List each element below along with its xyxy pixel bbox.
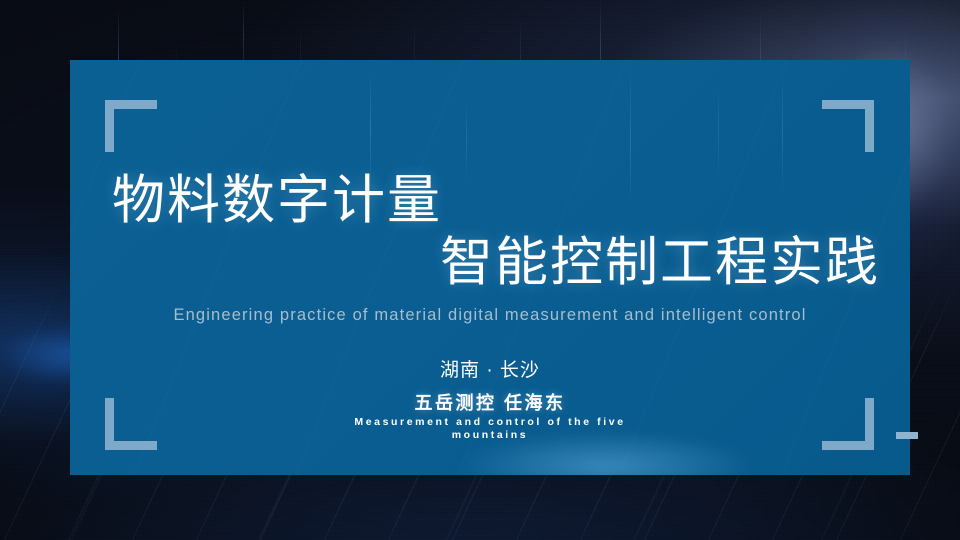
bracket-vertical-arm xyxy=(105,100,114,152)
page-title-line-2: 智能控制工程实践 xyxy=(70,232,910,294)
subtitle-english: Engineering practice of material digital… xyxy=(70,306,910,325)
page-title-line-1: 物料数字计量 xyxy=(70,170,910,232)
presenter-name-english: Measurement and control of the five moun… xyxy=(325,416,655,442)
presenter-name-chinese: 五岳测控 任海东 xyxy=(70,392,910,414)
presenter-block: 五岳测控 任海东 Measurement and control of the … xyxy=(70,392,910,442)
accent-dash xyxy=(896,432,918,439)
corner-bracket-top-right-icon xyxy=(822,100,874,152)
presentation-slide: 物料数字计量 智能控制工程实践 Engineering practice of … xyxy=(0,0,960,540)
location-text: 湖南 · 长沙 xyxy=(70,355,910,382)
title-block: 物料数字计量 智能控制工程实践 xyxy=(70,170,910,294)
corner-bracket-top-left-icon xyxy=(105,100,157,152)
bracket-vertical-arm xyxy=(865,100,874,152)
